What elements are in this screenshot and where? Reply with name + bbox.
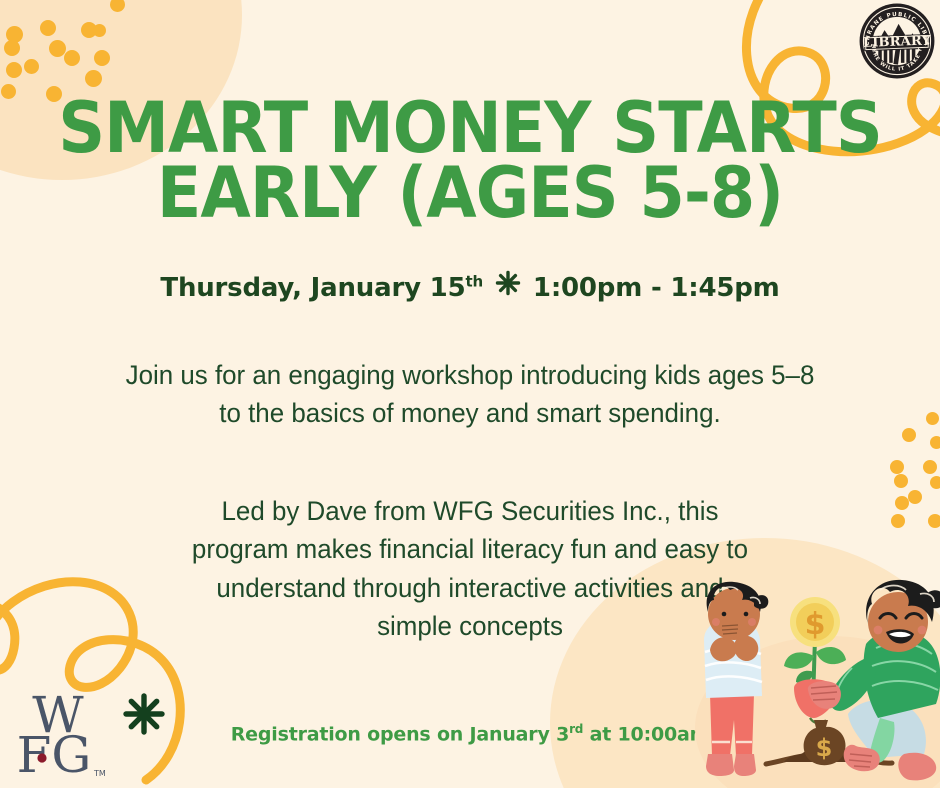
paragraph-2-line-2: program makes financial literacy fun and… bbox=[19, 530, 921, 568]
description-paragraph-1: Join us for an engaging workshop introdu… bbox=[19, 356, 921, 433]
wfg-logo: W FG TM bbox=[8, 686, 116, 782]
paragraph-2-line-1: Led by Dave from WFG Securities Inc., th… bbox=[19, 492, 921, 530]
event-datetime: Thursday, January 15th 1:00pm - 1:45pm bbox=[0, 272, 940, 305]
date-ordinal: th bbox=[465, 272, 482, 290]
event-time: 1:00pm - 1:45pm bbox=[533, 273, 780, 303]
paragraph-1-line-1: Join us for an engaging workshop introdu… bbox=[19, 356, 921, 394]
title-line-2: EARLY (AGES 5-8) bbox=[33, 161, 907, 226]
paragraph-1-line-2: to the basics of money and smart spendin… bbox=[19, 394, 921, 432]
money-bag-dollar-sign: $ bbox=[816, 734, 833, 762]
wfg-trademark: TM bbox=[93, 769, 106, 778]
cochrane-public-library-logo: LIBRARY COCHRANE PUBLIC LIBRARY WHERE WI… bbox=[858, 2, 936, 80]
green-asterisk-icon bbox=[122, 692, 166, 736]
asterisk-icon bbox=[495, 270, 521, 303]
wfg-red-dot bbox=[37, 753, 46, 762]
flyer-poster: SMART MONEY STARTS EARLY (AGES 5-8) Thur… bbox=[0, 0, 940, 788]
wfg-letters-fg: FG bbox=[17, 726, 92, 782]
poster-title: SMART MONEY STARTS EARLY (AGES 5-8) bbox=[33, 96, 907, 226]
event-date: Thursday, January 15 bbox=[160, 273, 465, 303]
kids-planting-money-plant-illustration: $ $ bbox=[680, 578, 940, 788]
dollar-sign-coin: $ bbox=[805, 607, 826, 642]
registration-prefix: Registration opens on January 3 bbox=[231, 723, 569, 745]
registration-ordinal: rd bbox=[569, 722, 583, 736]
